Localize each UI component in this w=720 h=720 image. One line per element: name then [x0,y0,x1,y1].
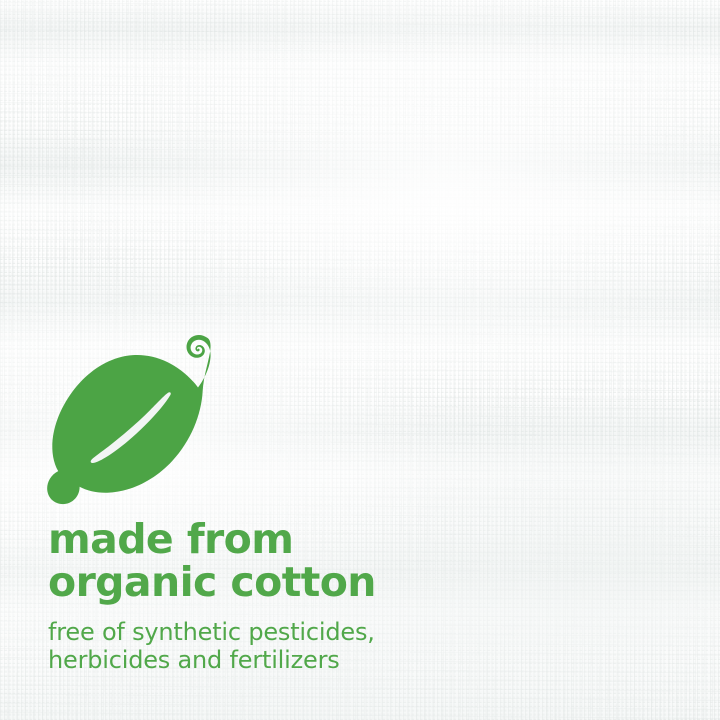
label-text-block: made from organic cotton free of synthet… [48,518,668,674]
headline-line-1: made from [48,518,668,561]
subtext-line-2: herbicides and fertilizers [48,646,668,674]
subtext-line-1: free of synthetic pesticides, [48,604,668,646]
organic-cotton-label-canvas: made from organic cotton free of synthet… [0,0,720,720]
headline-line-2: organic cotton [48,561,668,604]
leaf-blade-shape [47,335,210,504]
leaf-icon [44,332,216,510]
